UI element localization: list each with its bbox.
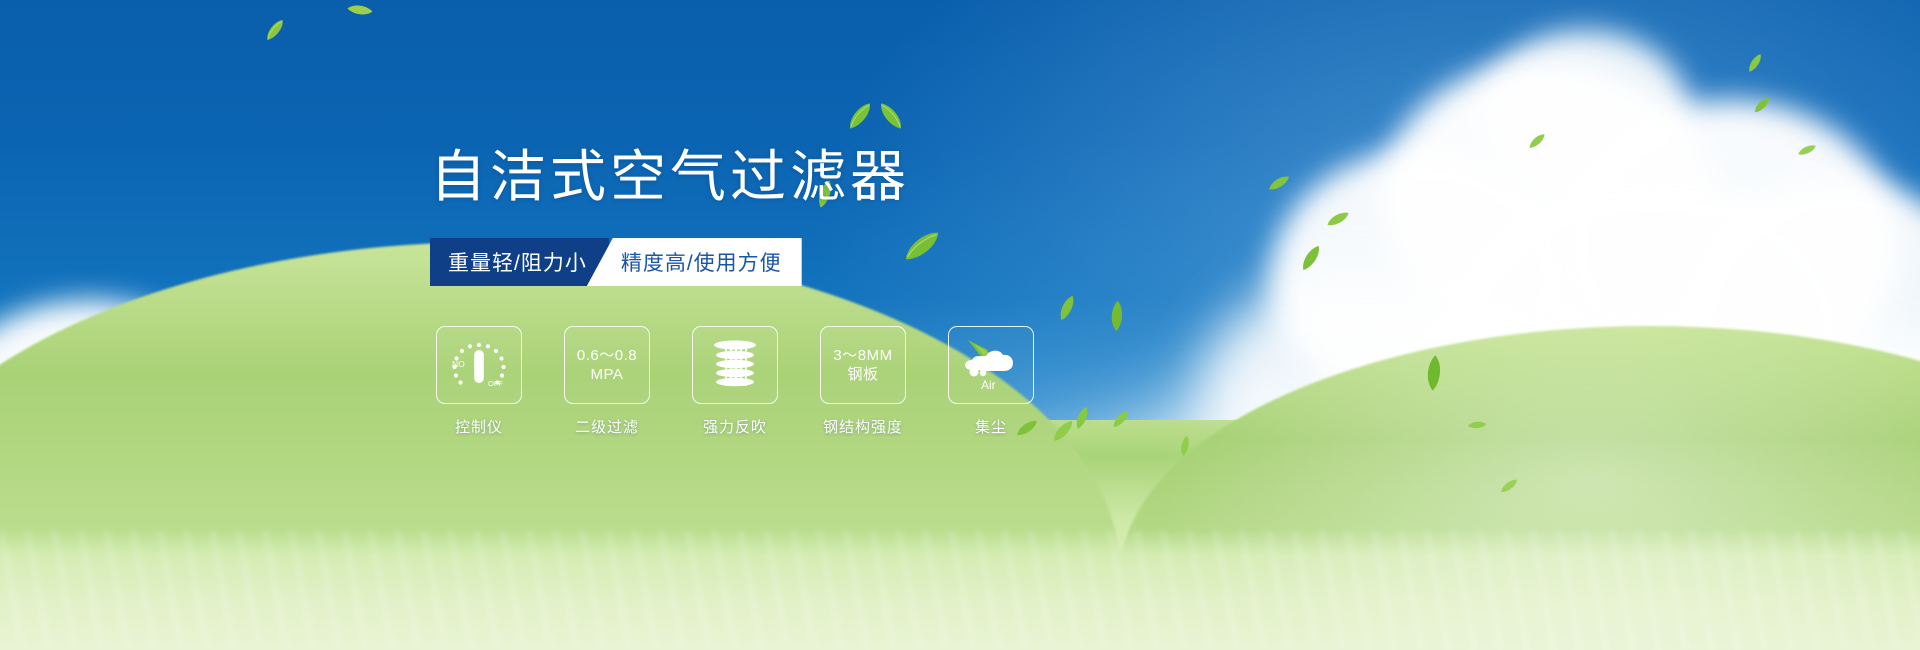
feature-icon-box [692, 326, 778, 404]
feature-icon-box: 3～8MM 钢板 [820, 326, 906, 404]
tab-highprecision-easyuse[interactable]: 精度高/使用方便 [587, 238, 802, 286]
page-title: 自洁式空气过滤器 [430, 132, 910, 213]
air-label: Air [981, 378, 996, 392]
feature-label: 二级过滤 [575, 416, 639, 437]
feature-icon-box: Air [948, 326, 1034, 404]
pressure-unit: MPA [577, 365, 637, 384]
pressure-range: 0.6～0.8 [577, 346, 637, 365]
feature-label: 强力反吹 [703, 416, 767, 437]
tab-lightweight-lowresistance[interactable]: 重量轻/阻力小 [430, 238, 609, 286]
gauge-off-label: OFF [488, 379, 503, 388]
feature-label: 控制仪 [455, 416, 503, 437]
banner-content: 自洁式空气过滤器 重量轻/阻力小 精度高/使用方便 [0, 0, 1920, 650]
steel-plate-label: 钢板 [833, 365, 892, 384]
feature-label: 集尘 [975, 416, 1007, 437]
gauge-no-label: NO [452, 359, 465, 369]
feature-item-steel-strength[interactable]: 3～8MM 钢板 钢结构强度 [820, 326, 906, 437]
tab-bar: 重量轻/阻力小 精度高/使用方便 [430, 238, 802, 286]
feature-item-dust-collection[interactable]: Air 集尘 [948, 326, 1034, 437]
feature-icon-box: NO OFF [436, 326, 522, 404]
pressure-text-icon: 0.6～0.8 MPA [577, 346, 637, 384]
filter-coil-icon [706, 336, 764, 394]
gauge-icon: NO OFF [448, 336, 510, 394]
steel-text-icon: 3～8MM 钢板 [833, 346, 892, 384]
feature-item-strong-blowback[interactable]: 强力反吹 [692, 326, 778, 437]
feature-item-two-stage-filter[interactable]: 0.6～0.8 MPA 二级过滤 [564, 326, 650, 437]
feature-list: NO OFF 控制仪 0.6～0.8 MPA 二级过滤 [436, 326, 1034, 437]
feature-label: 钢结构强度 [823, 416, 903, 437]
steel-thickness: 3～8MM [833, 346, 892, 365]
cloud-air-icon: Air [958, 336, 1024, 394]
product-banner: 自洁式空气过滤器 重量轻/阻力小 精度高/使用方便 [0, 0, 1920, 650]
feature-item-controller[interactable]: NO OFF 控制仪 [436, 326, 522, 437]
feature-icon-box: 0.6～0.8 MPA [564, 326, 650, 404]
